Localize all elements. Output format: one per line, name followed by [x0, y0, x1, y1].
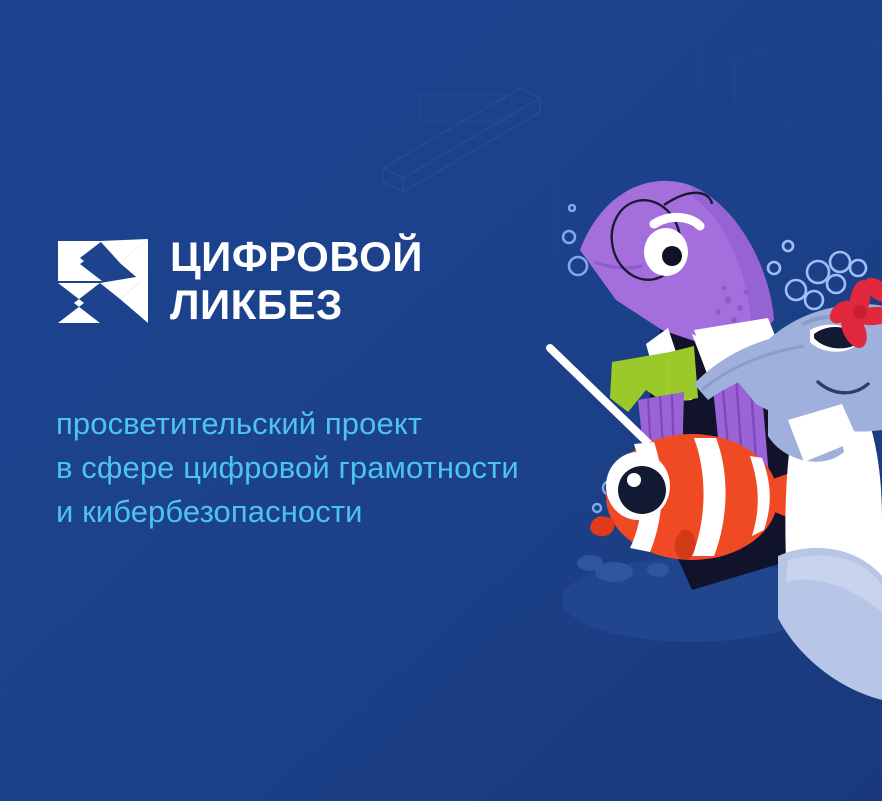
pebbles: [577, 555, 669, 582]
tuxedo-body: [638, 320, 792, 590]
promo-banner: ЦИФРОВОЙ ЛИКБЕЗ просветительский проект …: [0, 0, 882, 801]
red-flower-icon: [825, 273, 882, 352]
tagline-line-1: просветительский проект: [56, 402, 656, 446]
dolphin-eye: [804, 317, 864, 352]
brand-name: ЦИФРОВОЙ ЛИКБЕЗ: [170, 236, 423, 326]
clownfish-tail: [770, 466, 810, 526]
dolphin-snout: [694, 332, 810, 400]
brand-name-line-2: ЛИКБЕЗ: [170, 284, 423, 326]
grey-dolphin-character: [694, 241, 882, 700]
dolphin-tail-fin: [778, 548, 882, 700]
white-collar: [694, 318, 780, 368]
bubble-hair-cluster: [768, 241, 866, 309]
tagline-line-3: и кибербезопасности: [56, 490, 656, 534]
dolphin-collar: [788, 404, 858, 462]
dolphin-head: [738, 304, 882, 431]
cheek-freckles: [715, 286, 748, 323]
brand-lockup: ЦИФРОВОЙ ЛИКБЕЗ: [56, 236, 656, 326]
dolphin-dress: [785, 352, 882, 640]
zigzag-chevron-logo-icon: [56, 239, 148, 323]
dolphin-smile: [818, 382, 868, 393]
seafloor-shadow: [562, 558, 822, 642]
tuxedo-body-2: [728, 340, 830, 560]
dolphin-flipper: [768, 398, 844, 461]
tagline-line-2: в сфере цифровой грамотности: [56, 446, 656, 490]
brand-name-line-1: ЦИФРОВОЙ: [170, 236, 423, 278]
clownfish-fin: [674, 530, 695, 560]
tagline: просветительский проект в сфере цифровой…: [56, 402, 656, 534]
purple-fin-right: [712, 370, 770, 498]
banner-content: ЦИФРОВОЙ ЛИКБЕЗ просветительский проект …: [56, 236, 656, 534]
